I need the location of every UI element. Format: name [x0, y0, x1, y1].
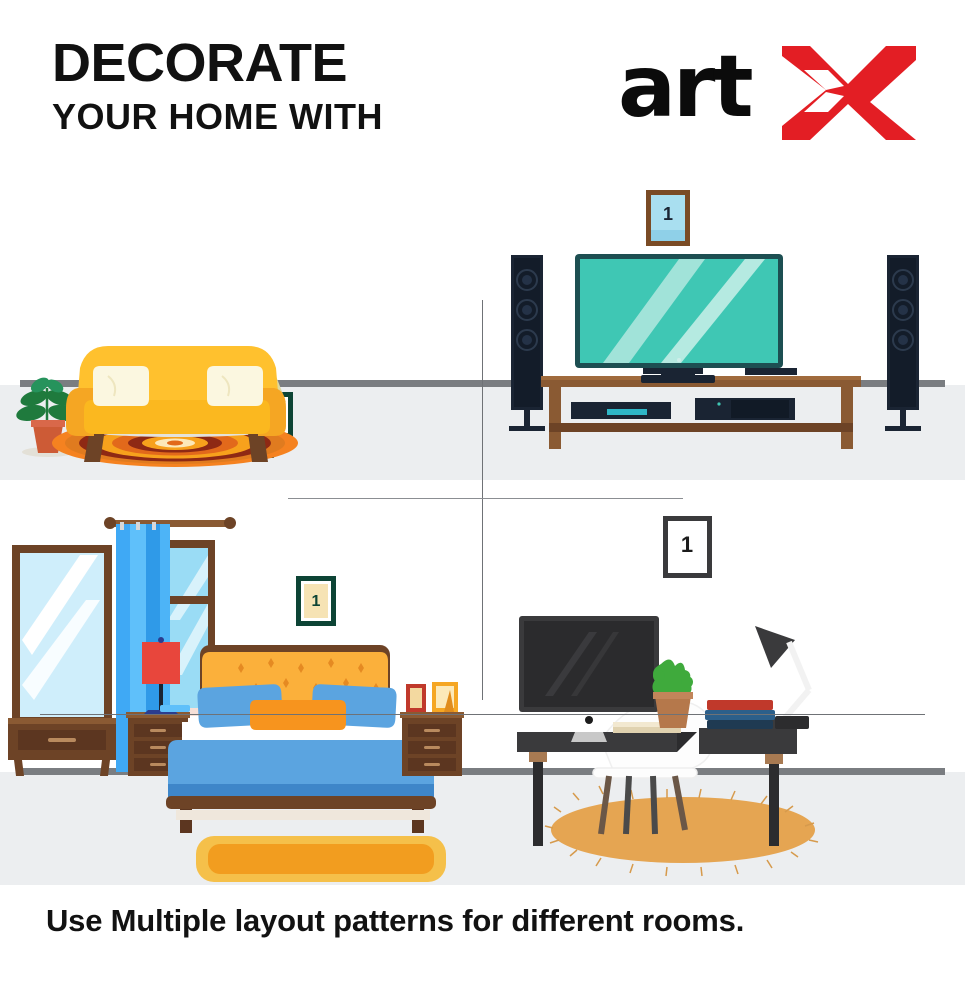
poster-root: DECORATE YOUR HOME WITH art — [0, 0, 965, 1000]
tower-speaker-right — [885, 255, 921, 431]
svg-text:1: 1 — [312, 593, 321, 610]
artwork-frame-tv-room: 1 — [646, 190, 690, 246]
poster-header: DECORATE YOUR HOME WITH art — [0, 0, 965, 170]
artwork-frame-bedroom: 1 — [296, 576, 336, 626]
scene-home-office: 1 — [483, 500, 965, 885]
scene-living-room: 1 — [0, 170, 483, 480]
headline-secondary: YOUR HOME WITH — [52, 94, 383, 139]
divider-horizontal-middle — [288, 498, 683, 499]
television — [575, 254, 783, 383]
svg-text:1: 1 — [663, 204, 673, 224]
headline-block: DECORATE YOUR HOME WITH — [52, 36, 383, 139]
standing-mirror-dresser — [8, 545, 116, 776]
scene-bedroom: 1 — [0, 500, 483, 885]
svg-text:1: 1 — [681, 532, 693, 557]
headline-primary: DECORATE — [52, 36, 383, 90]
divider-horizontal-bottom — [40, 714, 925, 715]
brand-logo: art — [618, 44, 918, 140]
brand-logo-text: art — [618, 44, 751, 130]
artwork-frame-office: 1 — [663, 516, 712, 578]
rectangular-rug-bedroom — [196, 836, 446, 882]
scene-tv-room: 1 — [483, 170, 965, 480]
scene-grid: 1 — [0, 170, 965, 885]
poster-caption: Use Multiple layout patterns for differe… — [46, 903, 744, 939]
divider-vertical — [482, 300, 483, 700]
nightstand-right — [400, 712, 464, 776]
tower-speaker-left — [509, 255, 545, 431]
brand-logo-x-icon — [776, 40, 921, 140]
photo-frames — [406, 682, 458, 712]
